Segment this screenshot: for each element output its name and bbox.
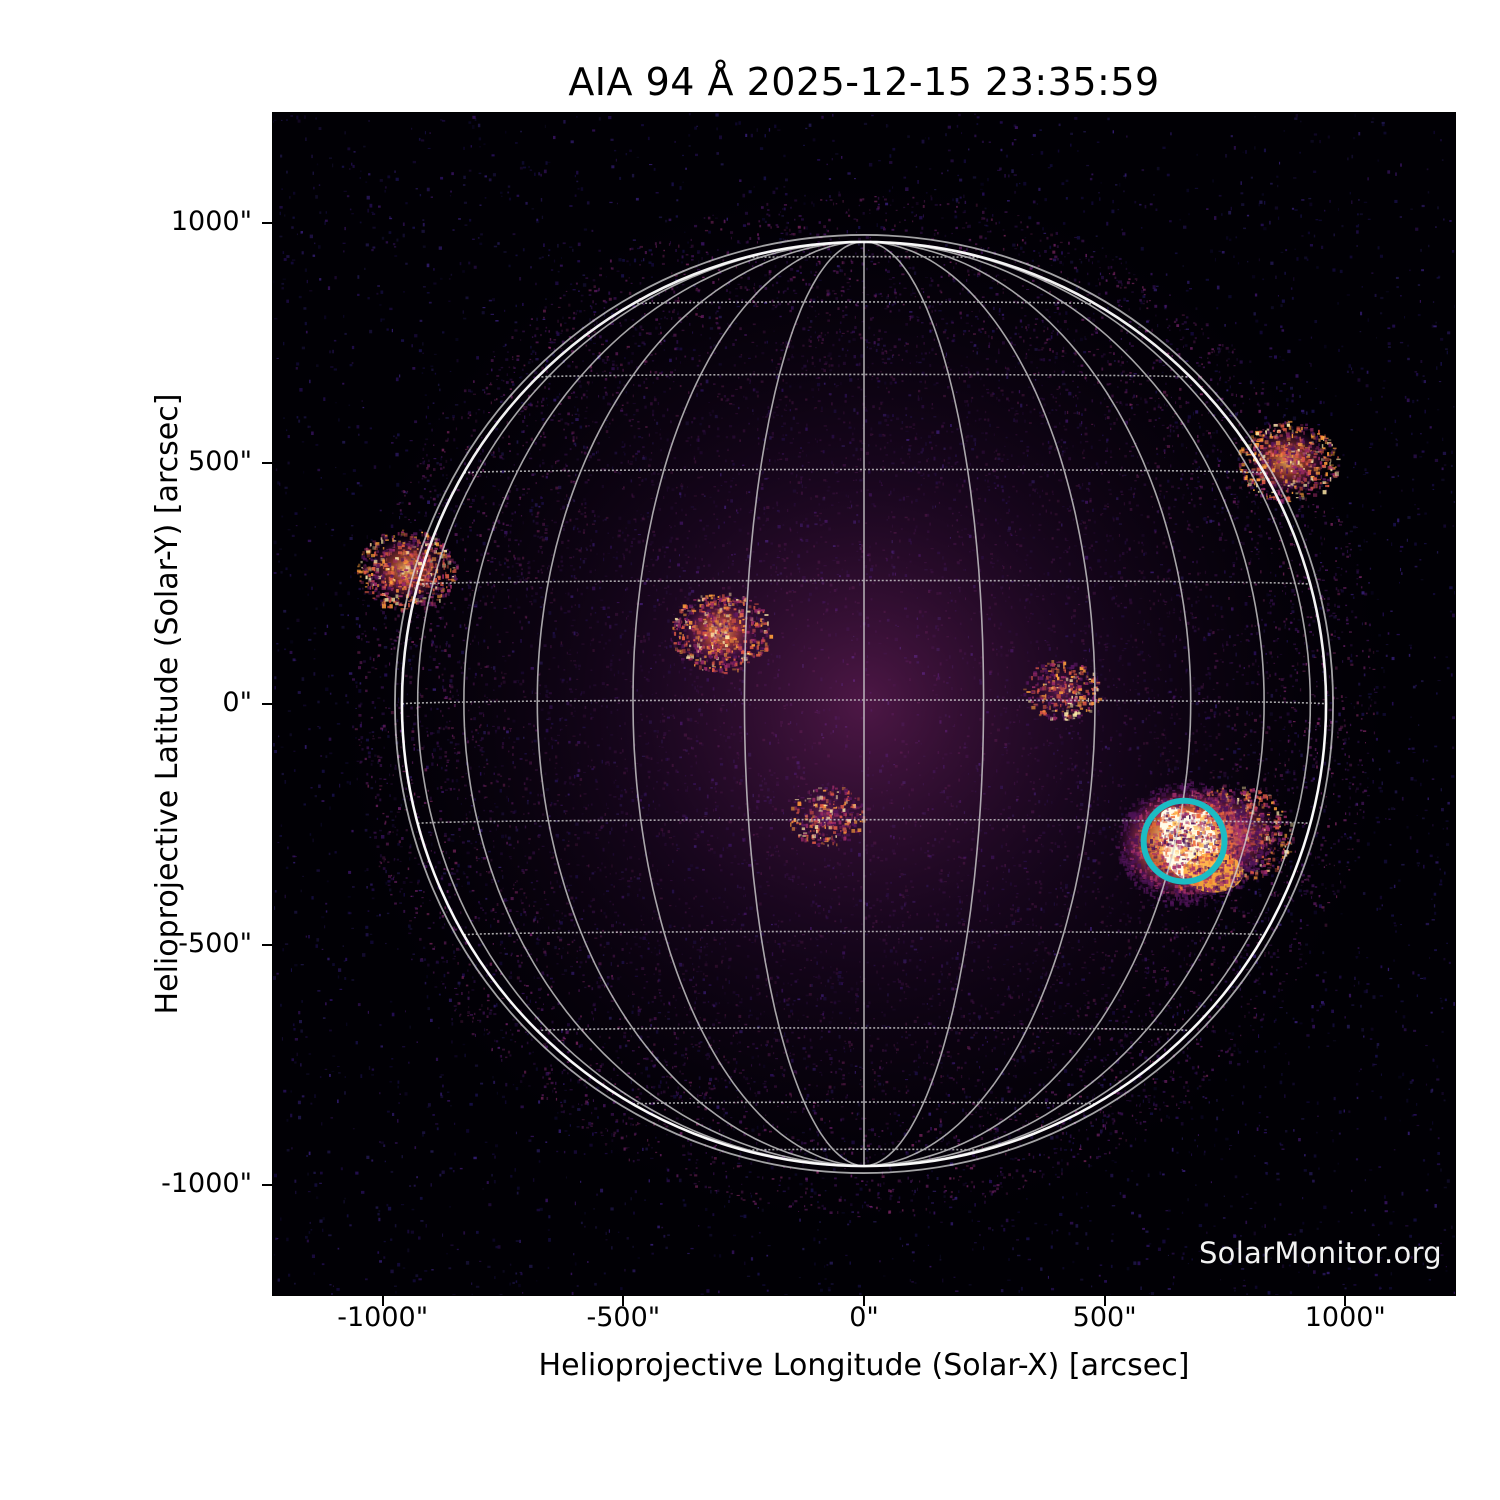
active-region-marker[interactable]: [1144, 801, 1225, 882]
x-tick-mark: [382, 1296, 384, 1306]
watermark-label: SolarMonitor.org: [1199, 1236, 1442, 1270]
solar-image-figure: AIA 94 Å 2025-12-15 23:35:59: [0, 0, 1500, 1500]
x-tick-label: 0": [774, 1302, 954, 1333]
y-tick-mark: [262, 944, 272, 946]
x-tick-mark: [622, 1296, 624, 1306]
solar-image-canvas[interactable]: SolarMonitor.org: [272, 112, 1456, 1296]
annotation-layer[interactable]: [272, 112, 1456, 1296]
y-tick-mark: [262, 462, 272, 464]
x-tick-label: -500": [533, 1302, 713, 1333]
page-title: AIA 94 Å 2025-12-15 23:35:59: [272, 60, 1456, 104]
y-tick-mark: [262, 1184, 272, 1186]
x-axis-label: Helioprojective Longitude (Solar-X) [arc…: [272, 1348, 1456, 1383]
x-tick-label: 500": [1015, 1302, 1195, 1333]
y-axis-label: Helioprojective Latitude (Solar-Y) [arcs…: [150, 112, 210, 1296]
x-tick-label: -1000": [293, 1302, 473, 1333]
y-tick-mark: [262, 703, 272, 705]
x-tick-label: 1000": [1255, 1302, 1435, 1333]
x-tick-mark: [1104, 1296, 1106, 1306]
x-tick-mark: [863, 1296, 865, 1306]
x-tick-mark: [1344, 1296, 1346, 1306]
y-tick-mark: [262, 222, 272, 224]
